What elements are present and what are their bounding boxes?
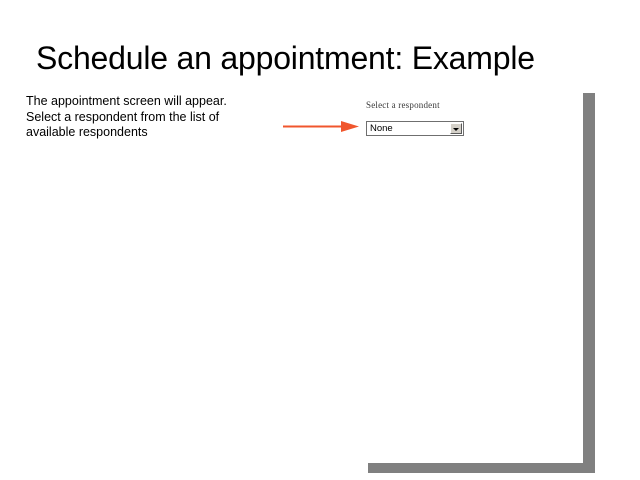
frame-horizontal-rule	[368, 463, 595, 473]
callout-arrow-icon	[283, 120, 365, 133]
respondent-dropdown[interactable]: None	[366, 121, 464, 136]
page-title: Schedule an appointment: Example	[36, 38, 616, 78]
select-respondent-label: Select a respondent	[366, 100, 440, 110]
chevron-down-icon	[453, 128, 459, 131]
respondent-dropdown-value: None	[370, 123, 393, 135]
instruction-text: The appointment screen will appear. Sele…	[26, 94, 258, 141]
dropdown-toggle-button[interactable]	[450, 123, 462, 134]
slide-canvas: Schedule an appointment: Example The app…	[0, 0, 640, 480]
frame-vertical-rule	[583, 93, 595, 473]
